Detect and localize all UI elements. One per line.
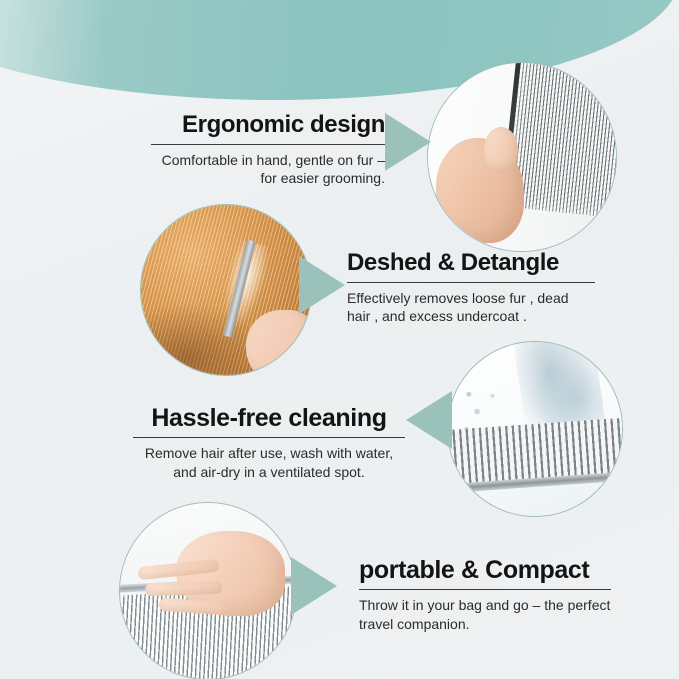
pointer-arrow-ergonomic-design [385, 113, 431, 171]
hand-graphic [246, 310, 312, 376]
feature-heading: Hassle-free cleaning [133, 404, 405, 432]
heading-divider [133, 437, 405, 438]
feature-body: Effectively removes loose fur , dead hai… [347, 289, 595, 326]
pointer-arrow-portable-compact [291, 557, 337, 615]
feature-heading: portable & Compact [359, 556, 611, 584]
feature-image-ergonomic-design [427, 62, 617, 252]
feature-body: Comfortable in hand, gentle on fur – for… [151, 151, 385, 188]
product-feature-infographic: Practical design [0, 0, 679, 679]
feature-text-ergonomic-design: Ergonomic design Comfortable in hand, ge… [151, 112, 385, 188]
pointer-arrow-hassle-free-cleaning [406, 391, 452, 449]
heading-divider [359, 589, 611, 590]
feature-image-hassle-free-cleaning [447, 341, 623, 517]
feature-image-portable-compact [119, 502, 297, 679]
feature-text-portable-compact: portable & Compact Throw it in your bag … [359, 556, 611, 633]
feature-body: Throw it in your bag and go – the perfec… [359, 596, 611, 633]
feature-heading: Deshed & Detangle [347, 250, 595, 277]
heading-divider [347, 282, 595, 283]
thumb-graphic [484, 127, 518, 172]
feature-image-deshed-detangle [140, 204, 312, 376]
feature-body: Remove hair after use, wash with water, … [133, 444, 405, 481]
feature-heading: Ergonomic design [151, 112, 385, 139]
pointer-arrow-deshed-detangle [299, 256, 345, 314]
heading-divider [151, 144, 385, 145]
feature-text-deshed-detangle: Deshed & Detangle Effectively removes lo… [347, 250, 595, 326]
feature-text-hassle-free-cleaning: Hassle-free cleaning Remove hair after u… [133, 404, 405, 481]
